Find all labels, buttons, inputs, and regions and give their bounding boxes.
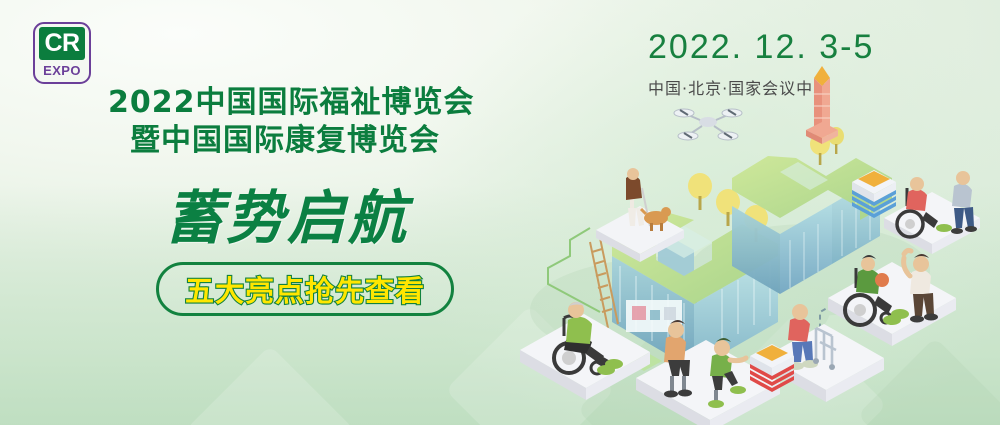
logo-mark-text: CR [39, 27, 85, 60]
highlights-cta-label: 五大亮点抢先查看 [185, 268, 425, 310]
event-banner: CR EXPO 2022中国国际福祉博览会 暨中国国际康复博览会 蓄势启航 五大… [0, 0, 1000, 425]
background-diamond [185, 345, 355, 425]
cr-expo-logo[interactable]: CR EXPO [33, 22, 91, 84]
signal-tower [806, 66, 838, 144]
slogan-text: 蓄势启航 [165, 171, 409, 255]
logo-sub-text: EXPO [43, 63, 81, 78]
isometric-illustration [480, 60, 1000, 425]
delivery-drone [674, 109, 742, 140]
headline-line-2: 暨中国国际康复博览会 [130, 115, 440, 159]
highlights-cta-button[interactable]: 五大亮点抢先查看 [156, 262, 454, 316]
